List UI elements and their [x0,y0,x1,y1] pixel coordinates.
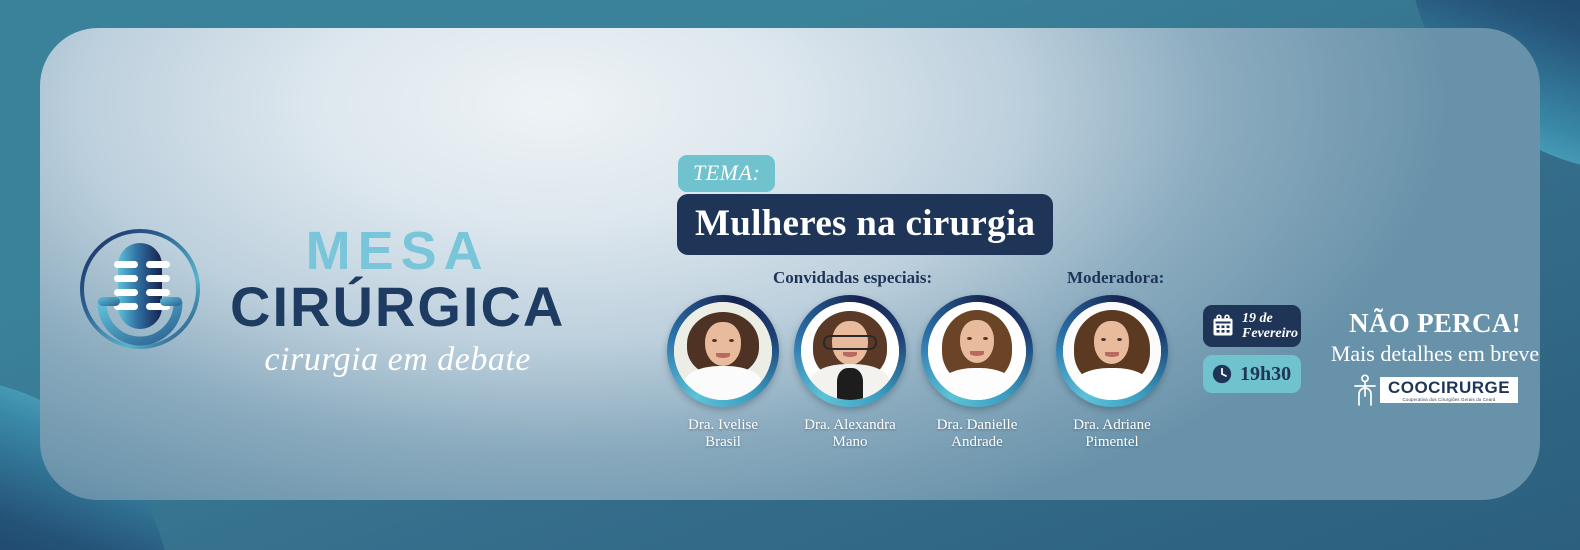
speaker-name: Dra. Adriane Pimentel [1056,417,1168,451]
topic-title: Mulheres na cirurgia [677,194,1053,255]
speaker-avatar-ring [921,295,1033,407]
sponsor-wordmark-box: COOCIRURGE Cooperativa dos Cirurgiões Ge… [1380,377,1518,403]
promo-banner: MESA CIRÚRGICA cirurgia em debate TEMA: … [0,0,1580,550]
microphone-icon [68,221,216,381]
speaker-card: Dra. Alexandra Mano [794,295,906,451]
cta-subtext: Mais detalhes em breve [1330,341,1540,367]
moderator-card: Dra. Adriane Pimentel [1056,295,1168,451]
sponsor-name: COOCIRURGE [1388,379,1510,397]
avatar [1063,302,1161,400]
cta-headline: NÃO PERCA! [1330,308,1540,339]
brand-text: MESA CIRÚRGICA cirurgia em debate [230,222,565,378]
speaker-card: Dra. Ivelise Brasil [667,295,779,451]
date-badge: 19 de Fevereiro [1203,305,1301,347]
brand-tagline: cirurgia em debate [264,341,530,379]
brand-name-cirurgica: CIRÚRGICA [230,278,565,335]
date-text: 19 de Fevereiro [1242,311,1298,342]
coocirurge-person-icon [1352,374,1378,406]
guests-label: Convidadas especiais: [773,268,932,288]
banner-card: MESA CIRÚRGICA cirurgia em debate TEMA: … [40,28,1540,500]
moderator-label: Moderadora: [1067,268,1164,288]
calendar-icon [1211,314,1235,338]
sponsor-logo: COOCIRURGE Cooperativa dos Cirurgiões Ge… [1330,374,1540,406]
speaker-avatar-ring [794,295,906,407]
avatar [801,302,899,400]
call-to-action: NÃO PERCA! Mais detalhes em breve COOCIR… [1330,308,1540,406]
sponsor-tagline: Cooperativa dos Cirurgiões Gerais do Cea… [1388,397,1510,402]
speaker-name: Dra. Ivelise Brasil [667,417,779,451]
speaker-avatar-ring [667,295,779,407]
clock-icon [1211,363,1233,385]
brand-block: MESA CIRÚRGICA cirurgia em debate [68,193,648,408]
decorative-arc-top-right-inner [1545,0,1580,35]
speaker-avatar-ring [1056,295,1168,407]
decorative-arc-bottom-left-inner [0,515,35,550]
avatar [928,302,1026,400]
time-text: 19h30 [1240,363,1291,386]
avatar [674,302,772,400]
speaker-name: Dra. Danielle Andrade [921,417,1033,451]
speaker-name: Dra. Alexandra Mano [794,417,906,451]
brand-name-mesa: MESA [306,226,490,277]
topic-badge: TEMA: [678,155,775,192]
speaker-card: Dra. Danielle Andrade [921,295,1033,451]
time-badge: 19h30 [1203,355,1301,393]
